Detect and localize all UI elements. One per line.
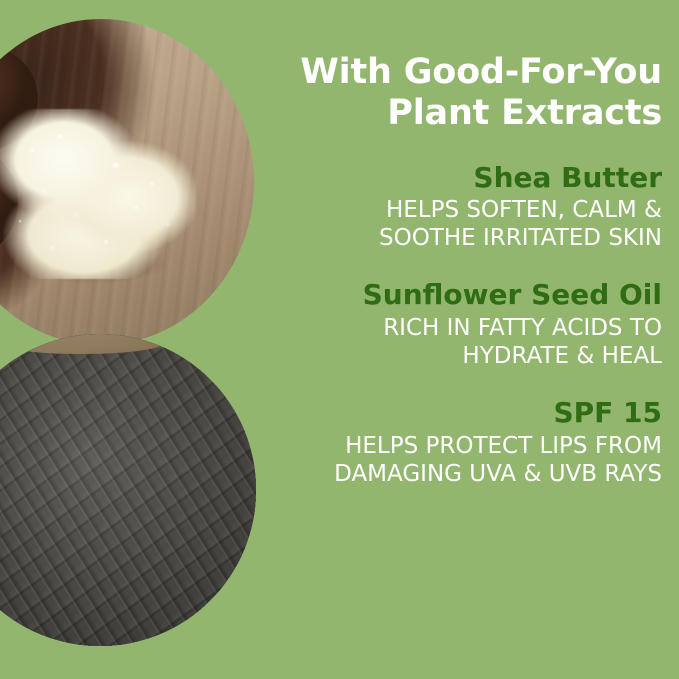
seed-vignette	[0, 334, 256, 646]
ingredient-description: HELPS SOFTEN, CALM & SOOTHE IRRITATED SK…	[260, 196, 662, 252]
ingredient-description-line-1: HELPS SOFTEN, CALM &	[260, 196, 662, 224]
ingredient-description: HELPS PROTECT LIPS FROM DAMAGING UVA & U…	[260, 432, 662, 488]
ingredient-description-line-2: SOOTHE IRRITATED SKIN	[260, 224, 662, 252]
butter-texture	[0, 109, 196, 279]
ingredient-description-line-1: RICH IN FATTY ACIDS TO	[260, 314, 662, 342]
ingredient-name: Sunflower Seed Oil	[260, 278, 662, 312]
ingredient-spf-15: SPF 15 HELPS PROTECT LIPS FROM DAMAGING …	[260, 396, 662, 488]
sunflower-seeds-photo	[0, 334, 256, 646]
shea-butter-photo	[0, 19, 254, 345]
headline-line-1: With Good-For-You	[300, 52, 662, 92]
ingredient-sunflower-seed-oil: Sunflower Seed Oil RICH IN FATTY ACIDS T…	[260, 278, 662, 370]
ingredient-description-line-2: HYDRATE & HEAL	[260, 342, 662, 370]
ingredient-description: RICH IN FATTY ACIDS TO HYDRATE & HEAL	[260, 314, 662, 370]
ingredient-shea-butter: Shea Butter HELPS SOFTEN, CALM & SOOTHE …	[260, 161, 662, 253]
product-benefits-infographic: With Good-For-You Plant Extracts Shea Bu…	[0, 0, 679, 679]
headline-line-2: Plant Extracts	[387, 93, 662, 133]
ingredient-description-line-2: DAMAGING UVA & UVB RAYS	[260, 460, 662, 488]
page-title: With Good-For-You Plant Extracts	[260, 0, 662, 135]
shea-butter-scoop	[0, 109, 196, 279]
ingredient-name: Shea Butter	[260, 161, 662, 195]
text-column: With Good-For-You Plant Extracts Shea Bu…	[260, 0, 662, 679]
ingredient-name: SPF 15	[260, 396, 662, 430]
ingredient-description-line-1: HELPS PROTECT LIPS FROM	[260, 432, 662, 460]
